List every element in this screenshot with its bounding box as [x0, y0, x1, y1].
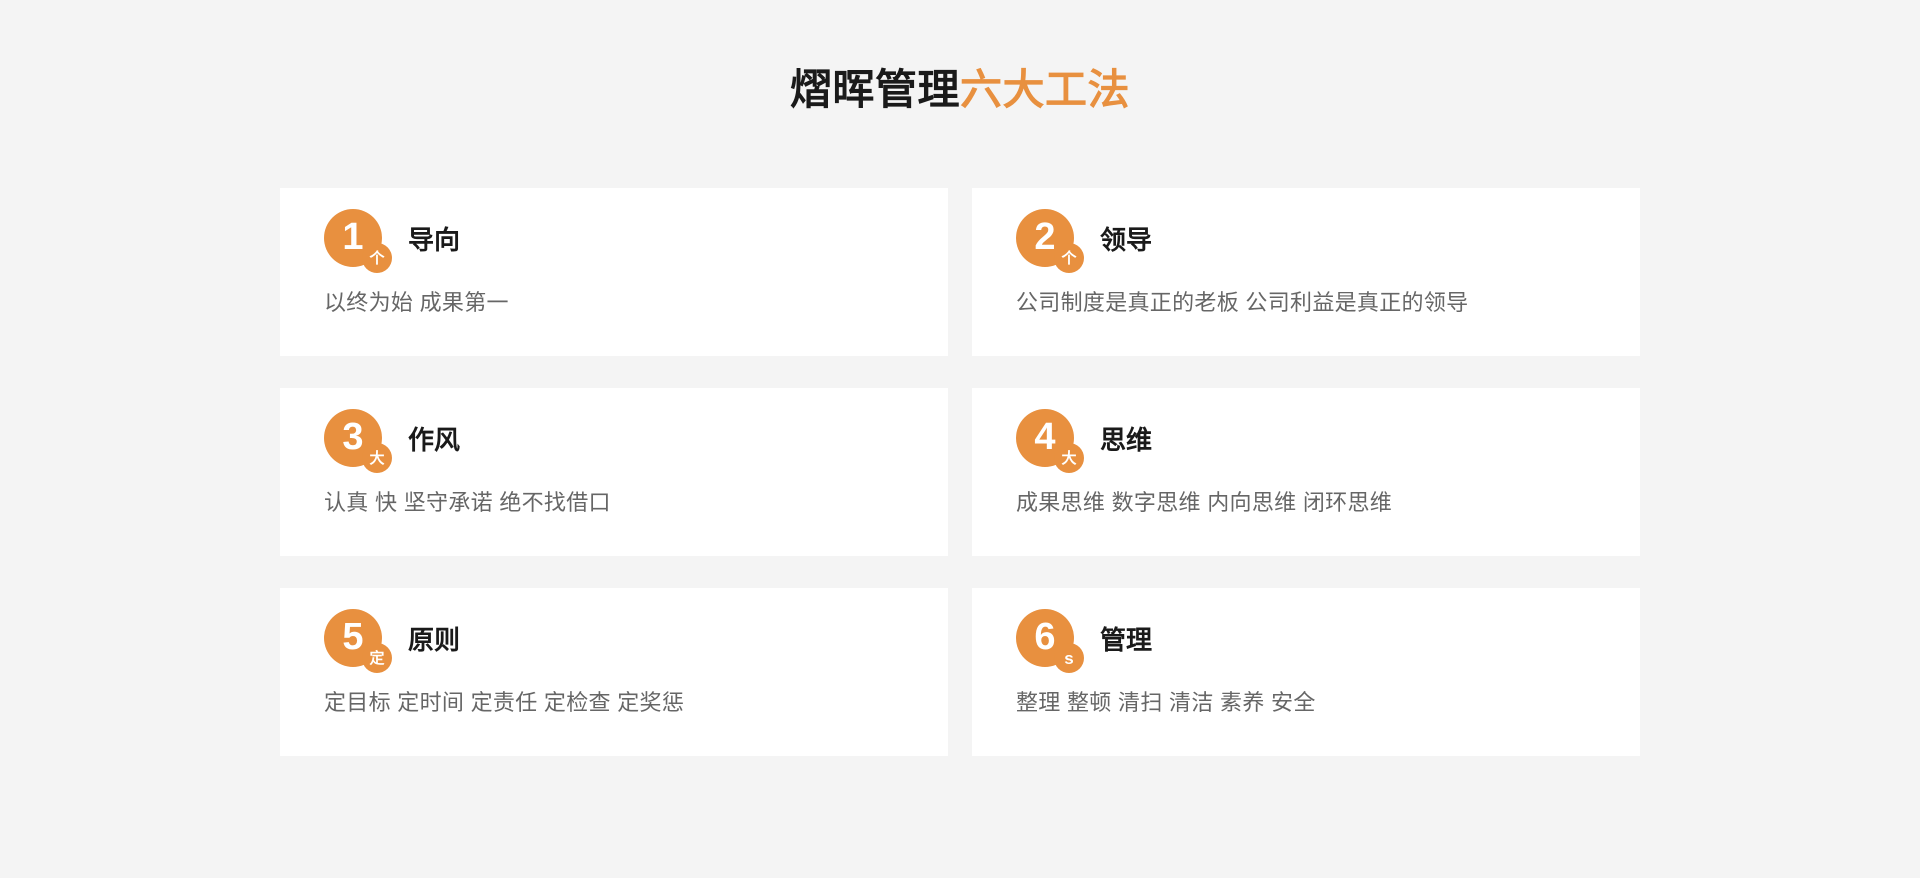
method-number-badge: 1个	[324, 209, 386, 271]
method-card-description: 成果思维 数字思维 内向思维 闭环思维	[1016, 488, 1610, 519]
method-number-badge: 6s	[1016, 609, 1078, 671]
method-card-head: 6s管理	[1016, 608, 1152, 672]
method-card-head: 1个导向	[324, 208, 460, 272]
method-card-heading: 思维	[1100, 427, 1152, 453]
method-card-head: 4大思维	[1016, 408, 1152, 472]
method-card[interactable]: 3大作风认真 快 坚守承诺 绝不找借口	[280, 388, 948, 556]
badge-unit: 大	[1054, 443, 1084, 473]
badge-unit: 大	[362, 443, 392, 473]
page-title-accent: 六大工法	[960, 66, 1130, 113]
method-card-description: 整理 整顿 清扫 清洁 素养 安全	[1016, 688, 1610, 719]
method-number-badge: 3大	[324, 409, 386, 471]
page-title-wrap: 熠晖管理六大工法	[0, 64, 1920, 117]
method-card-description: 定目标 定时间 定责任 定检查 定奖惩	[324, 688, 918, 719]
method-number-badge: 2个	[1016, 209, 1078, 271]
method-card-description: 公司制度是真正的老板 公司利益是真正的领导	[1016, 288, 1610, 319]
method-card-head: 3大作风	[324, 408, 460, 472]
methods-card-grid: 1个导向以终为始 成果第一2个领导公司制度是真正的老板 公司利益是真正的领导3大…	[280, 188, 1640, 756]
method-card-heading: 领导	[1100, 227, 1152, 253]
method-card[interactable]: 5定原则定目标 定时间 定责任 定检查 定奖惩	[280, 588, 948, 756]
badge-unit: 个	[1054, 243, 1084, 273]
method-card-head: 2个领导	[1016, 208, 1152, 272]
method-card-description: 认真 快 坚守承诺 绝不找借口	[324, 488, 918, 519]
badge-unit: 定	[362, 643, 392, 673]
method-card-heading: 管理	[1100, 627, 1152, 653]
method-number-badge: 5定	[324, 609, 386, 671]
method-card-heading: 导向	[408, 227, 460, 253]
method-card-description: 以终为始 成果第一	[324, 288, 918, 319]
page-root: 熠晖管理六大工法 1个导向以终为始 成果第一2个领导公司制度是真正的老板 公司利…	[0, 0, 1920, 878]
method-card-heading: 原则	[408, 627, 460, 653]
method-card[interactable]: 4大思维成果思维 数字思维 内向思维 闭环思维	[972, 388, 1640, 556]
page-title: 熠晖管理六大工法	[790, 64, 1130, 117]
method-card[interactable]: 1个导向以终为始 成果第一	[280, 188, 948, 356]
method-card[interactable]: 6s管理整理 整顿 清扫 清洁 素养 安全	[972, 588, 1640, 756]
page-title-primary: 熠晖管理	[790, 66, 960, 113]
method-number-badge: 4大	[1016, 409, 1078, 471]
method-card-head: 5定原则	[324, 608, 460, 672]
method-card[interactable]: 2个领导公司制度是真正的老板 公司利益是真正的领导	[972, 188, 1640, 356]
badge-unit: s	[1054, 643, 1084, 673]
method-card-heading: 作风	[408, 427, 460, 453]
badge-unit: 个	[362, 243, 392, 273]
